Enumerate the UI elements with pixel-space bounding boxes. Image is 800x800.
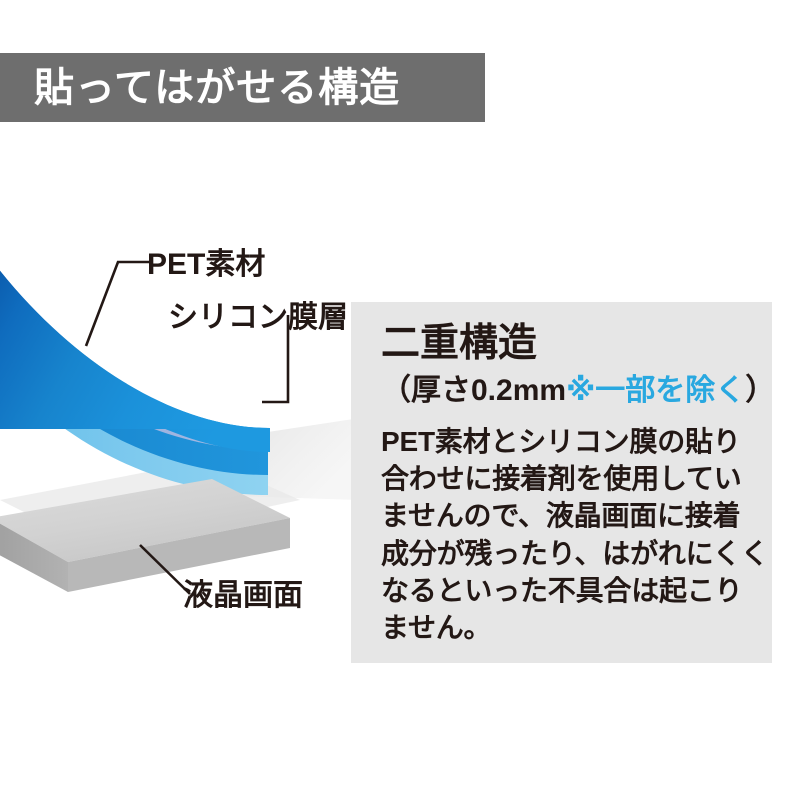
body-line: ませんので、液晶画面に接着 [381, 497, 758, 534]
info-panel: 二重構造 （厚さ0.2mm※一部を除く） PET素材とシリコン膜の貼り 合わせに… [351, 302, 772, 663]
panel-body-text: PET素材とシリコン膜の貼り 合わせに接着剤を使用してい ませんので、液晶画面に… [381, 423, 758, 646]
pet-leader-line [86, 262, 152, 346]
body-line: 成分が残ったり、はがれにくく [381, 535, 758, 572]
infographic-canvas: 貼ってはがせる構造 [0, 0, 800, 800]
body-line: 合わせに接着剤を使用してい [381, 460, 758, 497]
body-line: PET素材とシリコン膜の貼り [381, 423, 758, 460]
panel-subtitle: （厚さ0.2mm※一部を除く） [381, 376, 758, 406]
body-line: ません。 [381, 609, 758, 646]
panel-subtitle-highlight: ※一部を除く [566, 374, 745, 407]
panel-subtitle-suffix: ） [745, 374, 775, 407]
info-panel-content: 二重構造 （厚さ0.2mm※一部を除く） PET素材とシリコン膜の貼り 合わせに… [381, 324, 758, 646]
body-line: なるといった不具合は起こり [381, 572, 758, 609]
callout-label-silicon: シリコン膜層 [168, 303, 348, 333]
callout-label-pet: PET素材 [147, 250, 265, 280]
header-banner: 貼ってはがせる構造 [0, 53, 485, 122]
callout-label-lcd: 液晶画面 [183, 581, 303, 611]
panel-subtitle-prefix: （厚さ0.2mm [381, 374, 566, 407]
panel-heading: 二重構造 [381, 324, 758, 363]
banner-title: 貼ってはがせる構造 [34, 68, 400, 108]
